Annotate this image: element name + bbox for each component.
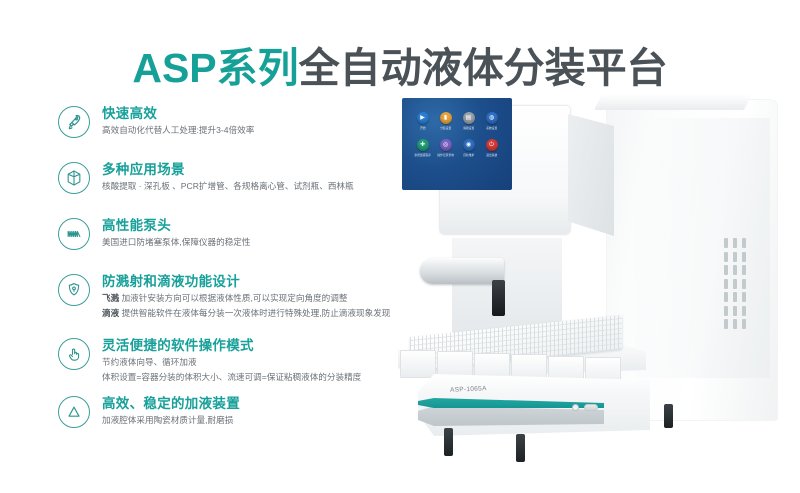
feature-desc-line1: 节约液体向导、循环加液 bbox=[102, 356, 361, 369]
app-exit-system[interactable]: ⏻ 退出系统 bbox=[480, 139, 503, 157]
feature-item-pump-head: 高性能泵头 美国进口防堵塞泵体,保障仪器的稳定性 bbox=[58, 216, 250, 250]
rocket-icon bbox=[58, 106, 90, 138]
app-container-settings[interactable]: ▤ 容器设置 bbox=[457, 112, 480, 130]
feature-desc: 核酸提取 · 深孔板 、PCR扩增管、各规格离心管、试剂瓶、西林瓶 bbox=[102, 180, 354, 193]
feature-desc-line2: 滴液 提供智能软件在液体每分装一次液体时进行特殊处理,防止滴液现象发现 bbox=[102, 307, 390, 320]
feature-desc-line2: 体积设置=容器分装的体积大小、流速可调=保证粘稠液体的分装精度 bbox=[102, 371, 361, 384]
machine-top-panel bbox=[594, 94, 752, 110]
machine-leg bbox=[516, 434, 525, 462]
feature-desc: 高效自动化代替人工处理:提升3-4倍效率 bbox=[102, 124, 254, 137]
page-title: ASP系列全自动液体分装平台 bbox=[0, 34, 800, 94]
history-app-icon: ◎ bbox=[440, 139, 452, 151]
feature-title: 多种应用场景 bbox=[102, 161, 354, 178]
feature-desc-line1: 飞溅 加液针安装方向可以根据液体性质,可以实现定向角度的调整 bbox=[102, 292, 390, 305]
usb-port[interactable] bbox=[584, 404, 598, 411]
feature-title: 高效、稳定的加液装置 bbox=[102, 395, 240, 412]
app-label: 退出系统 bbox=[486, 153, 497, 157]
app-label: 系统设置 bbox=[486, 126, 497, 130]
indicator-knob[interactable] bbox=[572, 404, 579, 411]
app-label: 新增加液程序 bbox=[414, 153, 430, 157]
cube-icon bbox=[58, 162, 90, 194]
dispensing-nozzle bbox=[492, 280, 505, 316]
app-system-settings[interactable]: ◍ 系统设置 bbox=[480, 112, 503, 130]
waveform-icon bbox=[58, 218, 90, 250]
app-dispense-settings[interactable]: ▮ 分装设置 bbox=[434, 112, 457, 130]
app-operation-log[interactable]: ◎ 操作记录查询 bbox=[434, 139, 457, 157]
sample-tube bbox=[400, 350, 436, 378]
hand-click-icon bbox=[58, 338, 90, 370]
product-banner: ASP系列全自动液体分装平台 快速高效 高效自动化代替人工处理:提升3-4倍效率 bbox=[0, 0, 800, 493]
search-app-icon: ◍ bbox=[486, 112, 498, 124]
feature-title: 快速高效 bbox=[102, 105, 254, 122]
machine-leg bbox=[664, 404, 673, 428]
feature-title: 灵活便捷的软件操作模式 bbox=[102, 337, 361, 354]
app-self-check[interactable]: ◉ 自检维护 bbox=[457, 139, 480, 157]
feature-desc: 加液腔体采用陶瓷材质计量,耐磨损 bbox=[102, 414, 240, 427]
title-dark: 全自动液体分装平台 bbox=[299, 45, 668, 91]
triangle-icon bbox=[58, 396, 90, 428]
tube-app-icon: ▮ bbox=[440, 112, 452, 124]
feature-desc: 美国进口防堵塞泵体,保障仪器的稳定性 bbox=[102, 236, 250, 249]
title-accent: ASP系列 bbox=[132, 45, 298, 91]
shield-icon bbox=[58, 274, 90, 306]
app-label: 自检维护 bbox=[463, 153, 474, 157]
feature-item-applications: 多种应用场景 核酸提取 · 深孔板 、PCR扩增管、各规格离心管、试剂瓶、西林瓶 bbox=[58, 160, 354, 194]
touchscreen-display[interactable]: ▶ 开始 ▮ 分装设置 ▤ 容器设置 ◍ 系统设置 ✚ 新增加液程序 bbox=[402, 98, 512, 190]
app-label: 操作记录查询 bbox=[437, 153, 453, 157]
ventilation-grille bbox=[724, 238, 750, 332]
machine-illustration: ▶ 开始 ▮ 分装设置 ▤ 容器设置 ◍ 系统设置 ✚ 新增加液程序 bbox=[392, 88, 800, 468]
feature-title: 高性能泵头 bbox=[102, 217, 250, 234]
machine-leg bbox=[444, 428, 453, 456]
feature-item-fast-efficient: 快速高效 高效自动化代替人工处理:提升3-4倍效率 bbox=[58, 104, 254, 138]
feature-item-software-mode: 灵活便捷的软件操作模式 节约液体向导、循环加液 体积设置=容器分装的体积大小、流… bbox=[58, 336, 361, 384]
app-new-program[interactable]: ✚ 新增加液程序 bbox=[411, 139, 434, 157]
add-app-icon: ✚ bbox=[417, 139, 429, 151]
control-head-side-panel bbox=[568, 114, 614, 236]
app-label: 分装设置 bbox=[440, 126, 451, 130]
rack-app-icon: ▤ bbox=[463, 112, 475, 124]
app-label: 开始 bbox=[420, 126, 425, 130]
feature-title: 防溅射和滴液功能设计 bbox=[102, 273, 390, 290]
app-play[interactable]: ▶ 开始 bbox=[411, 112, 434, 130]
power-app-icon: ⏻ bbox=[486, 139, 498, 151]
app-label: 容器设置 bbox=[463, 126, 474, 130]
check-app-icon: ◉ bbox=[463, 139, 475, 151]
feature-item-dosing-device: 高效、稳定的加液装置 加液腔体采用陶瓷材质计量,耐磨损 bbox=[58, 394, 240, 428]
play-app-icon: ▶ bbox=[417, 112, 429, 124]
screen-app-grid: ▶ 开始 ▮ 分装设置 ▤ 容器设置 ◍ 系统设置 ✚ 新增加液程序 bbox=[411, 112, 503, 157]
feature-item-anti-splash: 防溅射和滴液功能设计 飞溅 加液针安装方向可以根据液体性质,可以实现定向角度的调… bbox=[58, 272, 390, 320]
